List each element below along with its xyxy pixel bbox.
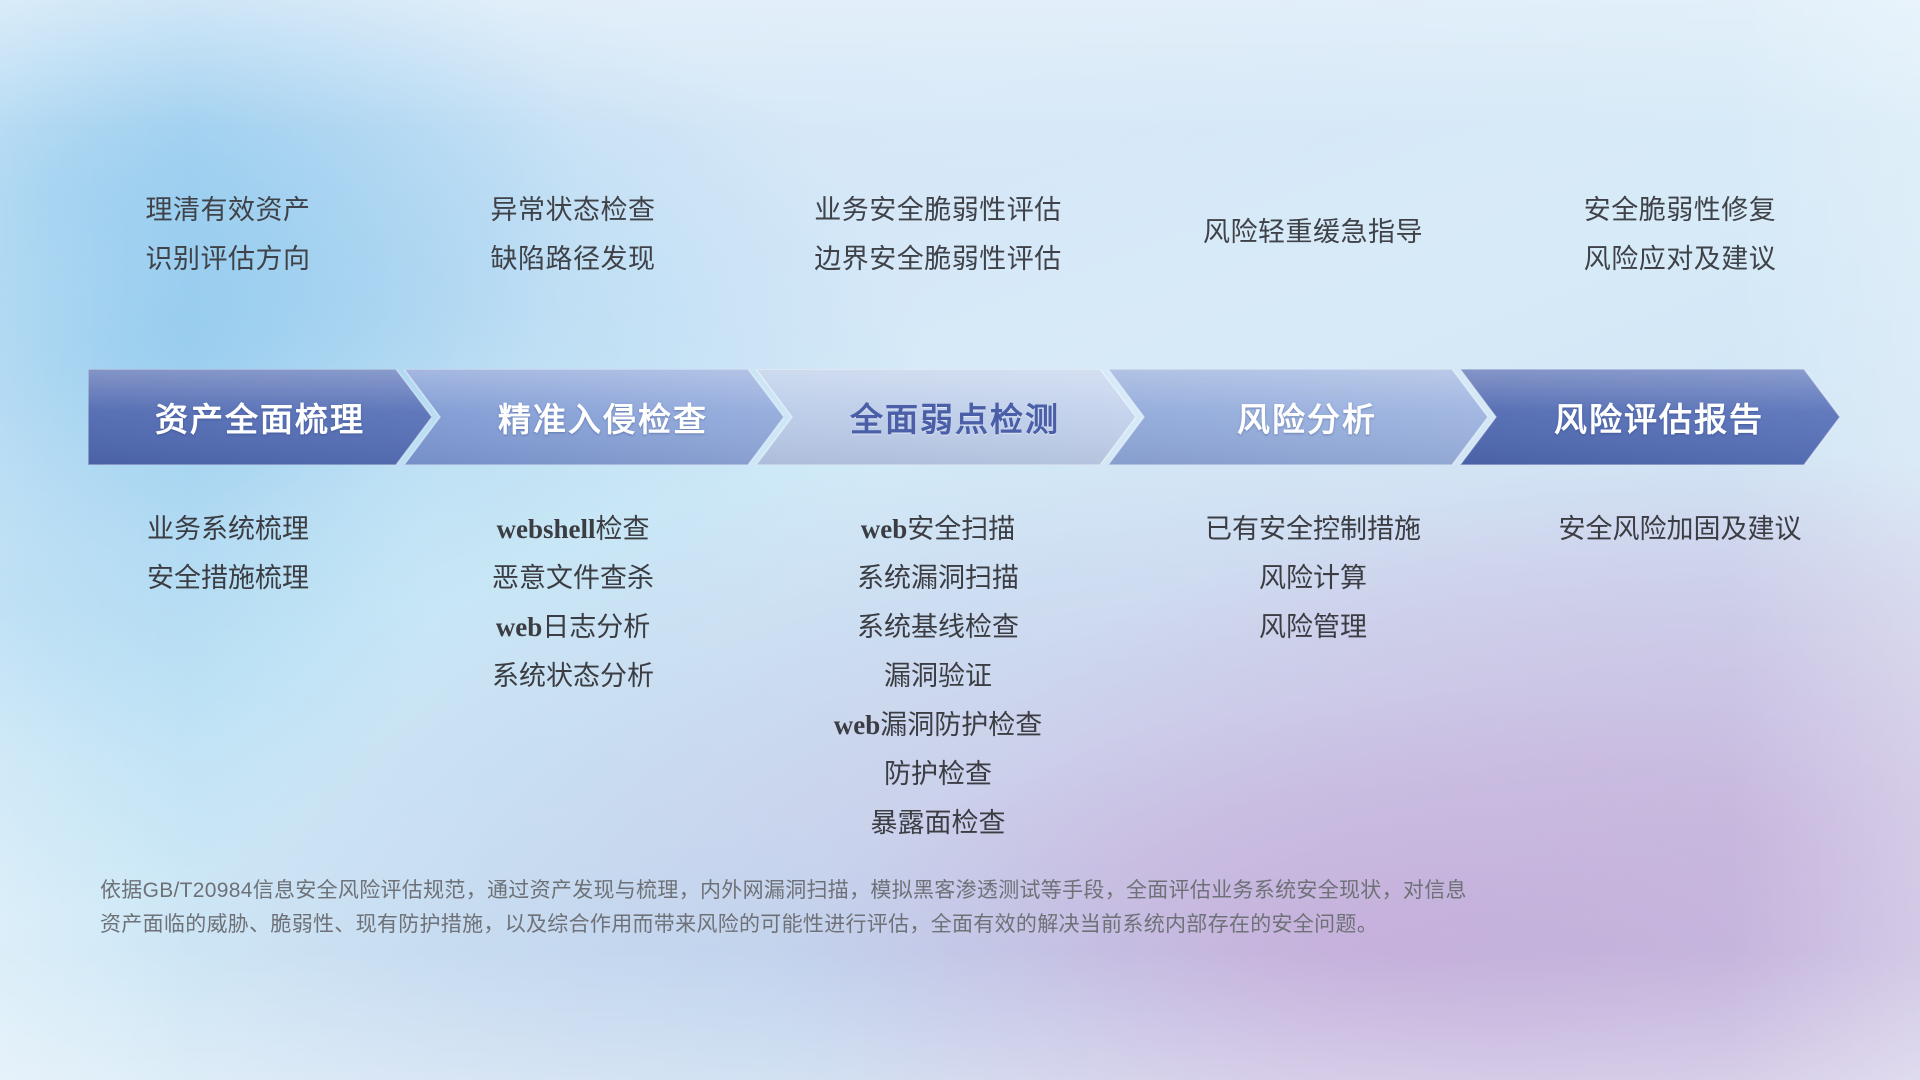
top-note-line: 理清有效资产 — [0, 186, 1188, 235]
detail-item: 风险计算 — [353, 554, 1920, 603]
stage-label: 资产全面梳理 — [155, 393, 365, 441]
detail-item-latin: web — [834, 710, 881, 740]
detail-item: 暴露面检查 — [0, 799, 1898, 848]
stage-label: 风险分析 — [1237, 393, 1377, 441]
stage-chevron-5[interactable]: 风险评估报告 — [1460, 369, 1840, 465]
top-note-line: 边界安全脆弱性评估 — [0, 235, 1898, 284]
detail-item: 安全风险加固及建议 — [720, 505, 1920, 554]
stage-chevron-3[interactable]: 全面弱点检测 — [756, 369, 1136, 465]
top-note-line: 识别评估方向 — [0, 235, 1188, 284]
stage-label: 全面弱点检测 — [850, 393, 1060, 441]
detail-item-cjk: 风险计算 — [1259, 563, 1367, 593]
top-note-line: 异常状态检查 — [0, 186, 1533, 235]
stage-chevron-1[interactable]: 资产全面梳理 — [88, 369, 432, 465]
stage-label: 精准入侵检查 — [498, 393, 708, 441]
detail-item-cjk: 漏洞验证 — [884, 661, 992, 691]
detail-item-cjk: 漏洞防护检查 — [880, 710, 1042, 740]
stage-label: 风险评估报告 — [1554, 393, 1764, 441]
detail-item: 漏洞验证 — [0, 652, 1898, 701]
detail-item-cjk: 暴露面检查 — [871, 808, 1006, 838]
detail-item: web漏洞防护检查 — [0, 701, 1898, 750]
stage-chevron-4[interactable]: 风险分析 — [1108, 369, 1488, 465]
stage-chevron-2[interactable]: 精准入侵检查 — [404, 369, 784, 465]
top-note-line: 缺陷路径发现 — [0, 235, 1533, 284]
top-note-line: 业务安全脆弱性评估 — [0, 186, 1898, 235]
detail-item-cjk: 防护检查 — [884, 759, 992, 789]
footer-line: 依据GB/T20984信息安全风险评估规范，通过资产发现与梳理，内外网漏洞扫描，… — [100, 874, 1620, 908]
process-flow-diagram: 理清有效资产识别评估方向异常状态检查缺陷路径发现业务安全脆弱性评估边界安全脆弱性… — [0, 0, 1920, 1080]
footer-line: 资产面临的威胁、脆弱性、现有防护措施，以及综合作用而带来风险的可能性进行评估，全… — [100, 908, 1620, 942]
detail-item: 防护检查 — [0, 750, 1898, 799]
top-note-line: 风险轻重缓急指导 — [353, 208, 1920, 257]
top-note-line: 安全脆弱性修复 — [720, 186, 1920, 235]
top-note-line: 风险应对及建议 — [720, 235, 1920, 284]
stage-chevron-band: 资产全面梳理精准入侵检查全面弱点检测风险分析风险评估报告 — [0, 369, 1920, 465]
footer-description: 依据GB/T20984信息安全风险评估规范，通过资产发现与梳理，内外网漏洞扫描，… — [100, 874, 1620, 942]
detail-item: 风险管理 — [353, 603, 1920, 652]
detail-item-cjk: 安全风险加固及建议 — [1559, 514, 1802, 544]
detail-item-cjk: 风险管理 — [1259, 612, 1367, 642]
